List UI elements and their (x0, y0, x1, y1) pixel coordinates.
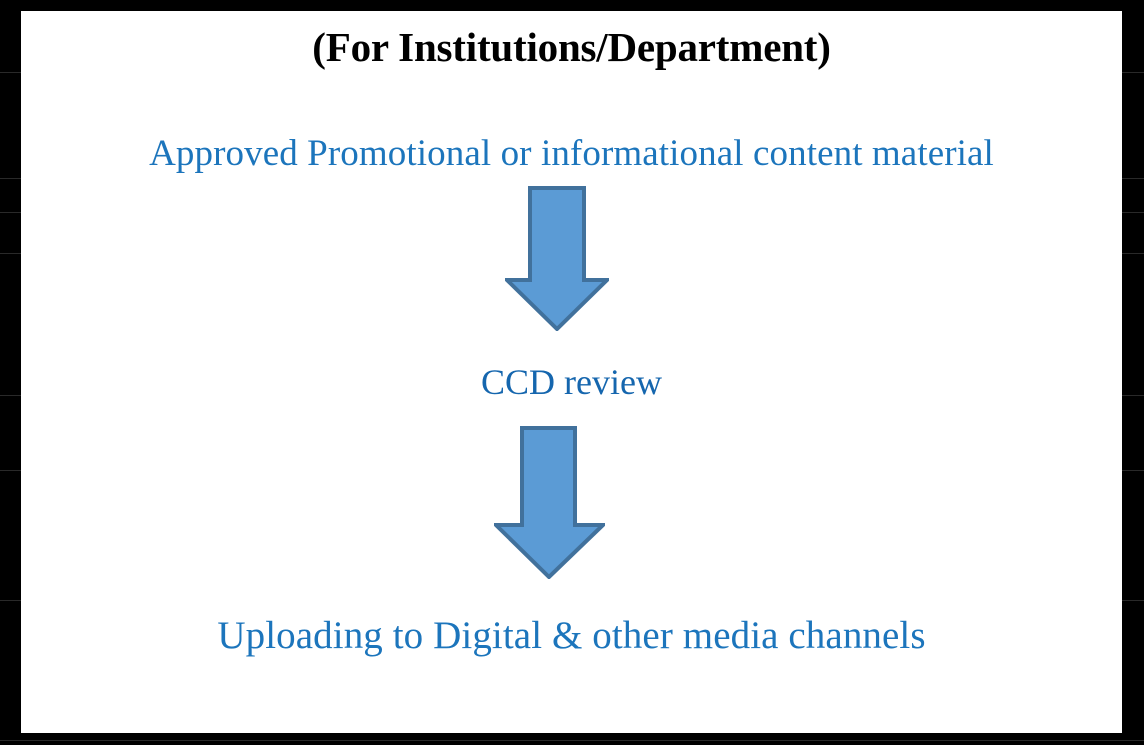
down-arrow-icon (494, 426, 605, 579)
margin-rule (0, 740, 1144, 741)
down-arrow-icon (505, 186, 609, 331)
slide-canvas: (For Institutions/Department) Approved P… (21, 11, 1122, 733)
slide-frame: (For Institutions/Department) Approved P… (0, 0, 1144, 745)
flow-step-ccd-review: CCD review (21, 360, 1122, 405)
page-title: (For Institutions/Department) (21, 23, 1122, 71)
flow-step-approved-content: Approved Promotional or informational co… (21, 131, 1122, 177)
flow-step-uploading: Uploading to Digital & other media chann… (21, 612, 1122, 660)
